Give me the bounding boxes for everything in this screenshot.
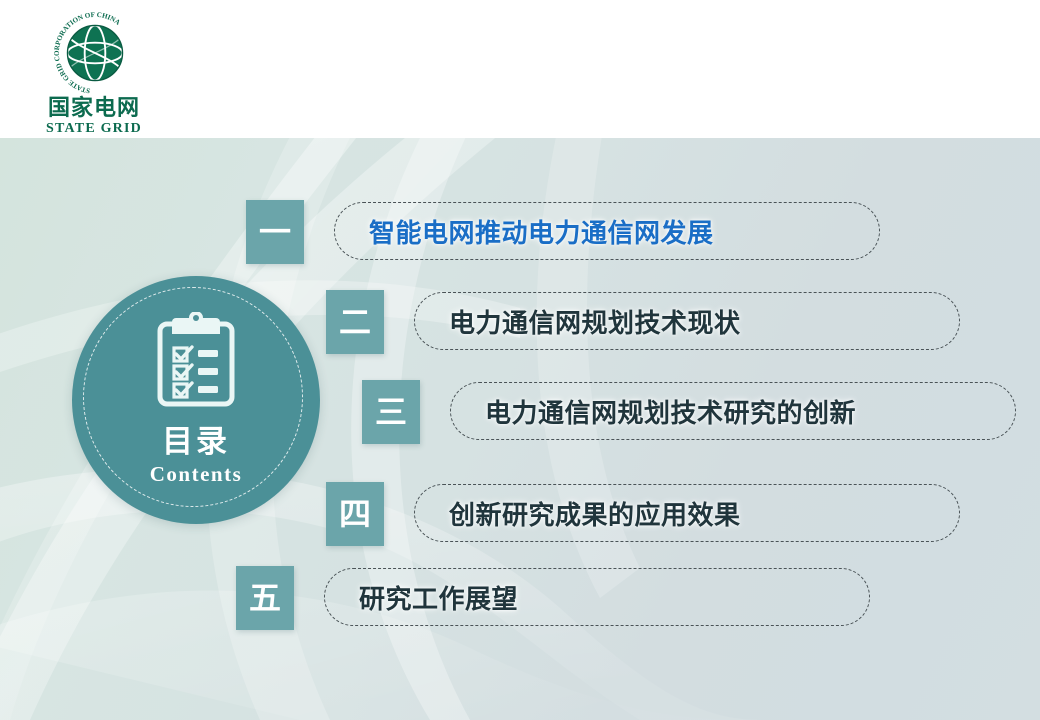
agenda-pill-2[interactable]: 电力通信网规划技术现状	[414, 292, 960, 350]
agenda-label-4: 创新研究成果的应用效果	[449, 495, 741, 532]
agenda-label-2: 电力通信网规划技术现状	[449, 303, 741, 340]
agenda-numeral-3: 三	[362, 380, 420, 444]
agenda-numeral-2: 二	[326, 290, 384, 354]
presentation-slide: STATE GRID CORPORATION OF CHINA 国家电网 STA…	[0, 0, 1040, 720]
agenda-numeral-1: 一	[246, 200, 304, 264]
slide-header-band: STATE GRID CORPORATION OF CHINA 国家电网 STA…	[0, 0, 1040, 138]
agenda-pill-4[interactable]: 创新研究成果的应用效果	[414, 484, 960, 542]
agenda-pill-5[interactable]: 研究工作展望	[324, 568, 870, 626]
agenda-pill-3[interactable]: 电力通信网规划技术研究的创新	[450, 382, 1016, 440]
logo-english-name: STATE GRID	[24, 122, 164, 136]
agenda-label-1: 智能电网推动电力通信网发展	[369, 213, 714, 250]
agenda-numeral-5: 五	[236, 566, 294, 630]
agenda-label-5: 研究工作展望	[359, 579, 518, 616]
logo-chinese-name: 国家电网	[24, 98, 164, 120]
agenda-label-3: 电力通信网规划技术研究的创新	[485, 393, 856, 430]
state-grid-logo: STATE GRID CORPORATION OF CHINA 国家电网 STA…	[24, 8, 164, 136]
agenda-pill-1[interactable]: 智能电网推动电力通信网发展	[334, 202, 880, 260]
state-grid-globe-emblem-icon: STATE GRID CORPORATION OF CHINA	[52, 10, 138, 96]
agenda-numeral-4: 四	[326, 482, 384, 546]
